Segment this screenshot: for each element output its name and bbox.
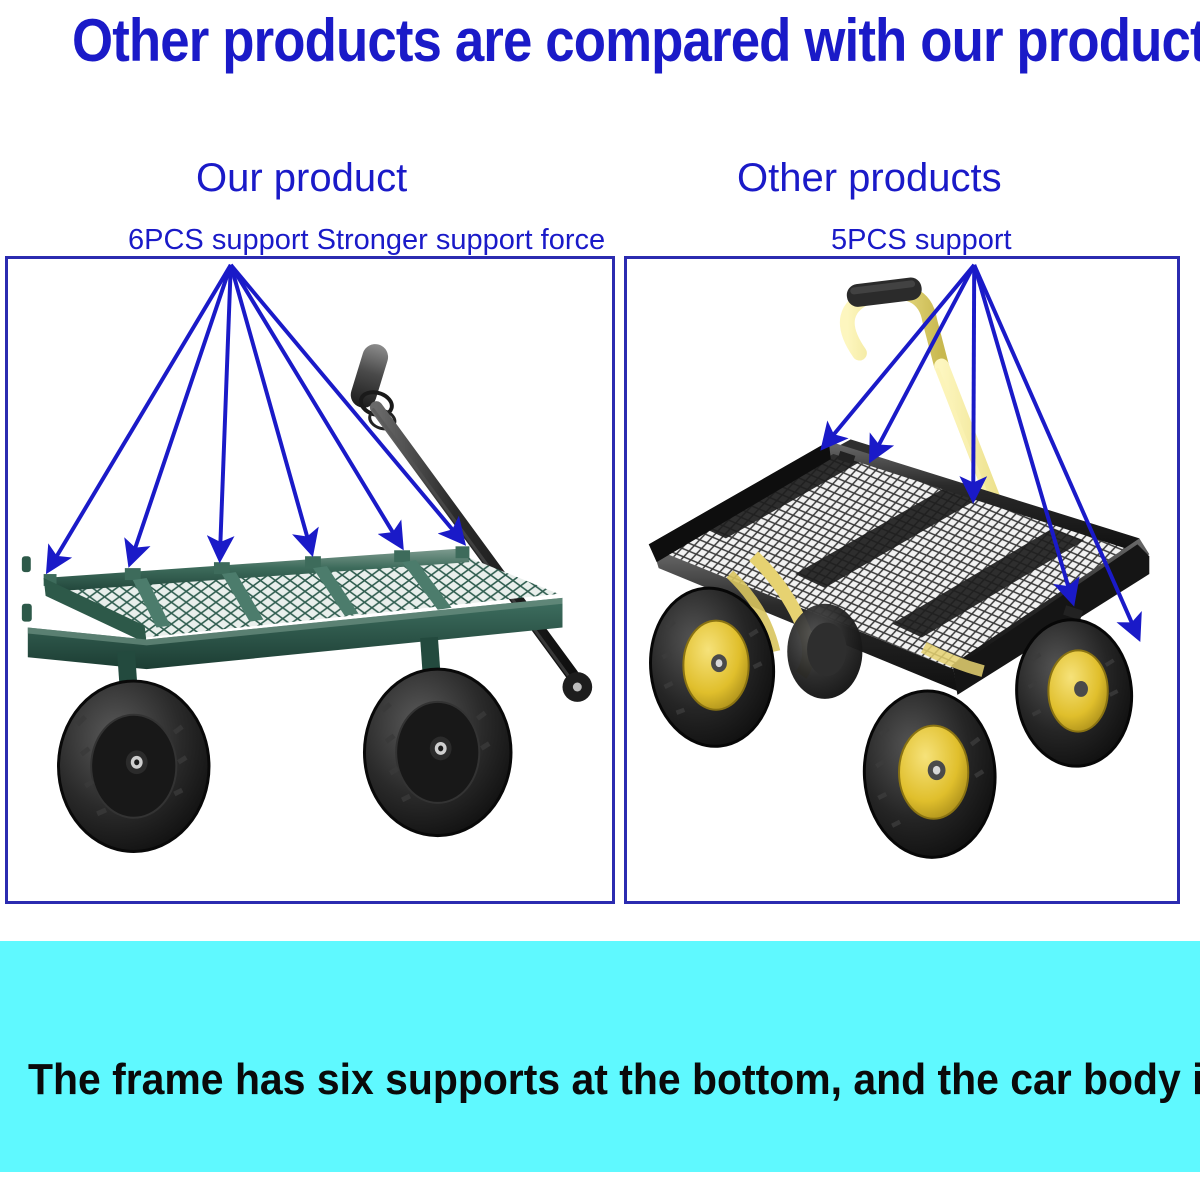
infographic-root: Other products are compared with our pro… [0,0,1200,1200]
panel-other-products [624,256,1180,904]
caption-bar: The frame has six supports at the bottom… [0,941,1200,1172]
our-product-illustration [8,259,612,901]
wheel-rear-hidden-right-panel [787,604,862,699]
wheel-front-left [58,681,209,851]
support-label-right: 5PCS support [831,224,1012,257]
panel-our-product [5,256,615,904]
wheel-rear-left [364,669,511,835]
page-title: Other products are compared with our pro… [72,6,1128,75]
support-label-left: 6PCS support Stronger support force [128,224,605,257]
wheel-front-center-right-panel [859,687,1001,862]
caption-text: The frame has six supports at the bottom… [28,1055,1098,1105]
column-heading-our-product: Our product [196,156,407,201]
column-heading-other-products: Other products [737,156,1002,201]
other-products-illustration [627,259,1177,901]
support-arrows-left [50,265,462,568]
cart-deck-left [22,546,563,675]
